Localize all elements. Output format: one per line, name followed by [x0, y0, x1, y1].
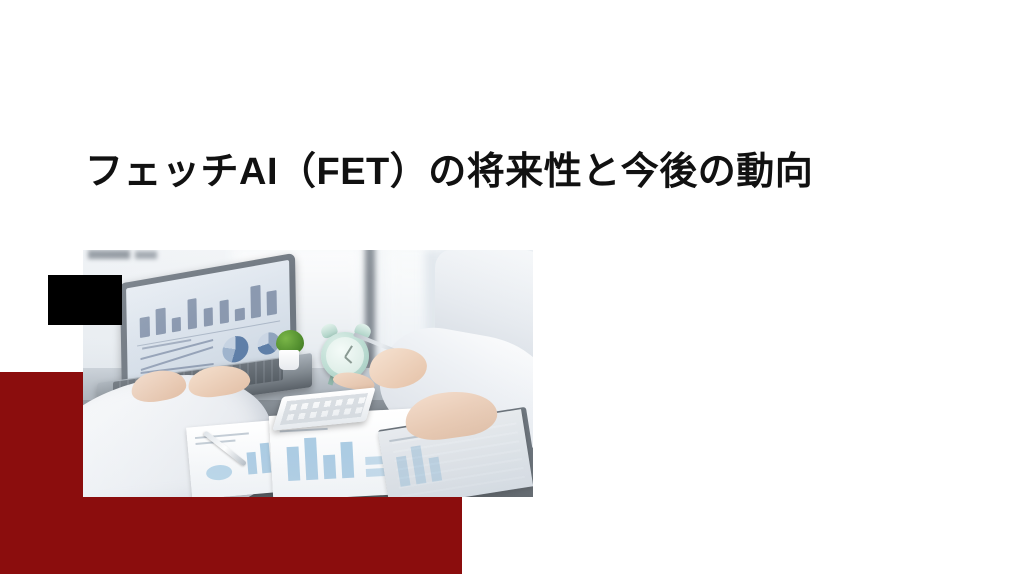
calculator-keys	[280, 393, 368, 425]
photo-background-shelf-left	[88, 250, 130, 259]
photo-background-shelf-right	[135, 251, 157, 259]
page-title: フェッチAI（FET）の将来性と今後の動向	[85, 149, 905, 197]
screen-bar-chart	[139, 279, 277, 339]
hero-photo	[83, 250, 533, 497]
slide-canvas: フェッチAI（FET）の将来性と今後の動向	[0, 0, 1024, 576]
screen-pie-chart	[222, 334, 248, 364]
alarm-clock-hour-hand	[344, 356, 352, 363]
black-accent-block	[48, 275, 122, 325]
alarm-clock-face	[326, 337, 364, 375]
potted-plant-pot	[279, 350, 299, 370]
